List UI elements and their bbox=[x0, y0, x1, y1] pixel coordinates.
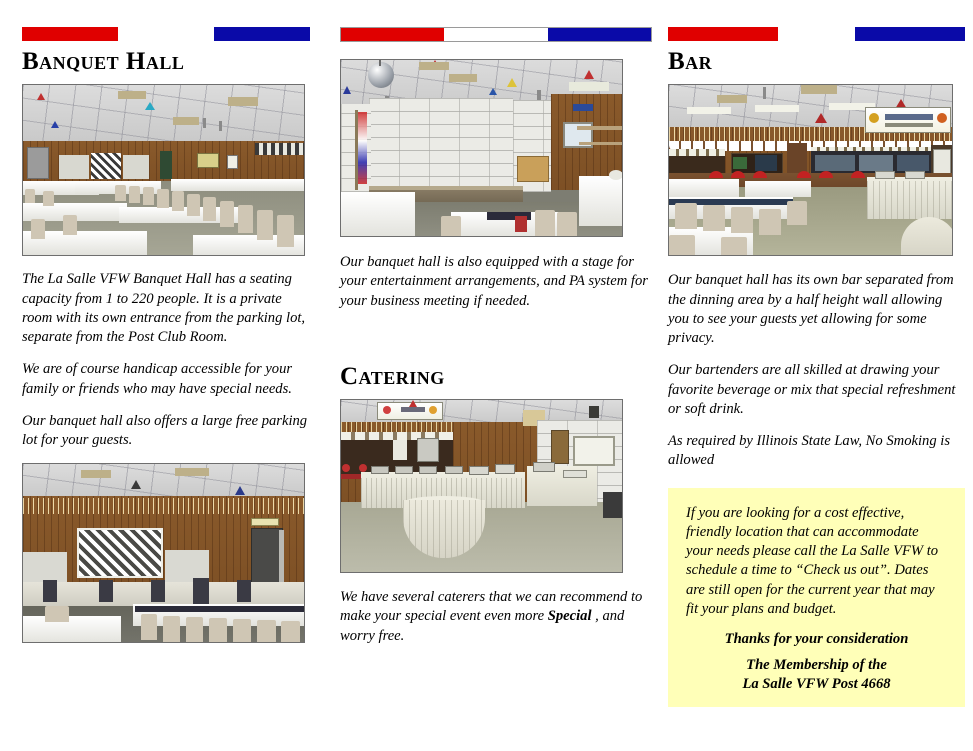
banner-stripe-white bbox=[118, 27, 214, 41]
signature-line-2: La Salle VFW Post 4668 bbox=[686, 675, 947, 694]
paragraph-handicap: We are of course handicap accessible for… bbox=[22, 360, 310, 399]
photo-bar bbox=[668, 84, 953, 256]
photo-banquet-hall-tables bbox=[22, 84, 305, 256]
paragraph-stage: Our banquet hall is also equipped with a… bbox=[340, 253, 652, 311]
banner-stripe-blue bbox=[548, 28, 651, 41]
callout-thanks: Thanks for your consideration bbox=[686, 631, 947, 648]
paragraph-bartenders: Our bartenders are all skilled at drawin… bbox=[668, 361, 965, 419]
column-left: Banquet Hall bbox=[0, 0, 332, 751]
catering-text-emphasis: Special bbox=[548, 608, 592, 624]
heading-banquet-hall: Banquet Hall bbox=[22, 49, 310, 75]
heading-bar: Bar bbox=[668, 49, 965, 75]
flag-banner-right bbox=[668, 27, 965, 41]
signature-line-1: The Membership of the bbox=[686, 656, 947, 675]
callout-contact: If you are looking for a cost effective,… bbox=[668, 488, 965, 708]
column-right: Bar bbox=[660, 0, 973, 751]
flag-banner-middle bbox=[340, 27, 652, 42]
banner-stripe-red bbox=[341, 28, 444, 41]
heading-catering: Catering bbox=[340, 364, 652, 390]
photo-banquet-hall-head-table bbox=[22, 463, 305, 643]
photo-stage bbox=[340, 59, 623, 237]
banner-stripe-red bbox=[668, 27, 778, 41]
brochure-page: Banquet Hall bbox=[0, 0, 973, 751]
paragraph-bar-separation: Our banquet hall has its own bar separat… bbox=[668, 271, 965, 348]
banner-stripe-white bbox=[778, 27, 855, 41]
paragraph-capacity: The La Salle VFW Banquet Hall has a seat… bbox=[22, 270, 310, 347]
callout-signature: The Membership of the La Salle VFW Post … bbox=[686, 656, 947, 693]
paragraph-no-smoking: As required by Illinois State Law, No Sm… bbox=[668, 432, 965, 471]
paragraph-parking: Our banquet hall also offers a large fre… bbox=[22, 412, 310, 451]
photo-catering bbox=[340, 399, 623, 573]
banner-stripe-white bbox=[444, 28, 547, 41]
banner-stripe-blue bbox=[855, 27, 965, 41]
banner-stripe-blue bbox=[214, 27, 310, 41]
paragraph-catering: We have several caterers that we can rec… bbox=[340, 588, 652, 646]
banner-stripe-red bbox=[22, 27, 118, 41]
flag-banner-left bbox=[22, 27, 310, 41]
column-middle: Our banquet hall is also equipped with a… bbox=[332, 0, 660, 751]
callout-body: If you are looking for a cost effective,… bbox=[686, 504, 947, 620]
